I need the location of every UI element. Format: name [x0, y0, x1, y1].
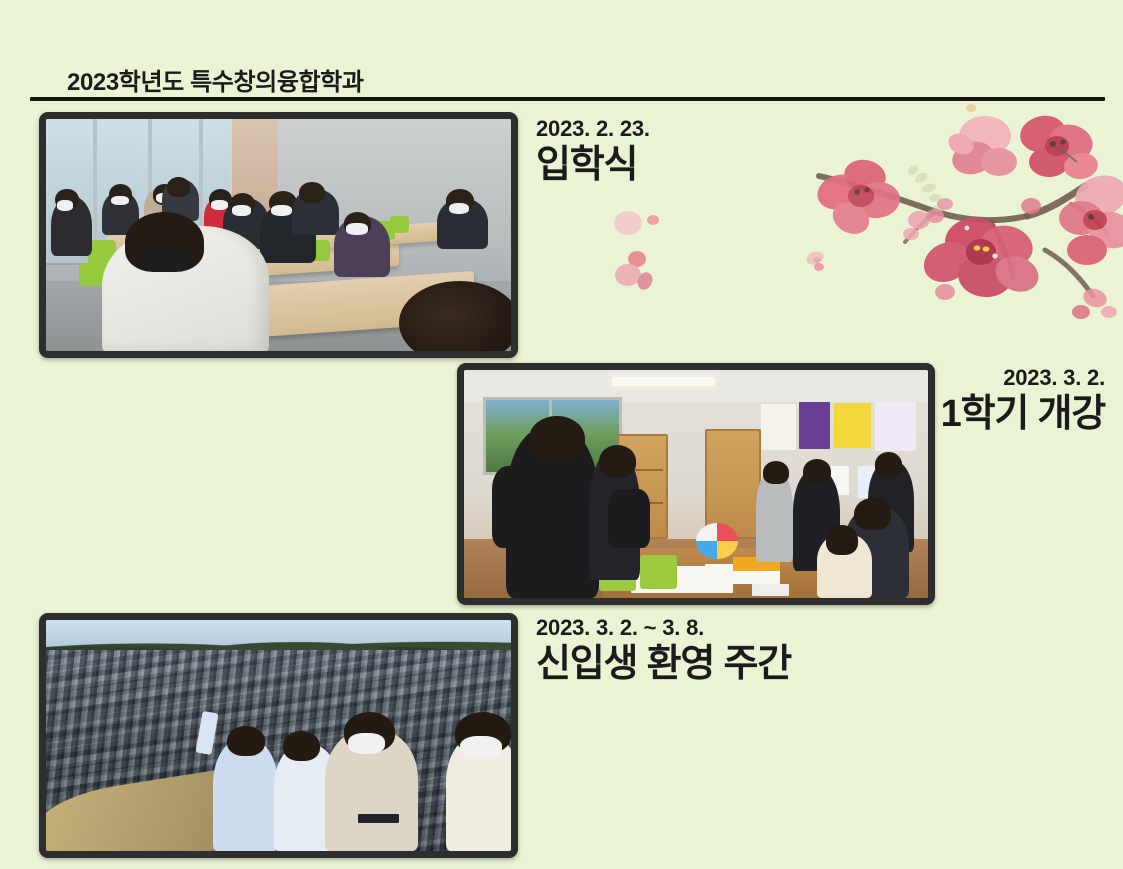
caption-entrance-ceremony: 2023. 2. 23. 입학식: [536, 117, 650, 187]
caption-welcome-week: 2023. 3. 2. ~ 3. 8. 신입생 환영 주간: [536, 616, 791, 686]
photo-frame-entrance-ceremony: [39, 112, 518, 358]
caption-date: 2023. 3. 2. ~ 3. 8.: [536, 616, 791, 640]
caption-semester-start: 2023. 3. 2. 1학기 개강: [941, 366, 1105, 436]
photo-image-entrance-ceremony: [46, 119, 511, 351]
caption-title: 입학식: [536, 144, 650, 187]
slide-page: 2023학년도 특수창의융합학과: [0, 0, 1123, 869]
photo-frame-welcome-week: [39, 613, 518, 858]
header-divider: [30, 97, 1105, 101]
caption-title: 1학기 개강: [941, 393, 1105, 436]
cherry-blossom-branch-icon: [795, 100, 1123, 350]
caption-date: 2023. 3. 2.: [941, 366, 1105, 390]
floating-petals-icon: [595, 195, 825, 305]
caption-title: 신입생 환영 주간: [536, 643, 791, 686]
page-title: 2023학년도 특수창의융합학과: [67, 62, 364, 97]
photo-image-welcome-week: [46, 620, 511, 851]
caption-date: 2023. 2. 23.: [536, 117, 650, 141]
photo-frame-semester-start: [457, 363, 935, 605]
photo-image-semester-start: [464, 370, 928, 598]
